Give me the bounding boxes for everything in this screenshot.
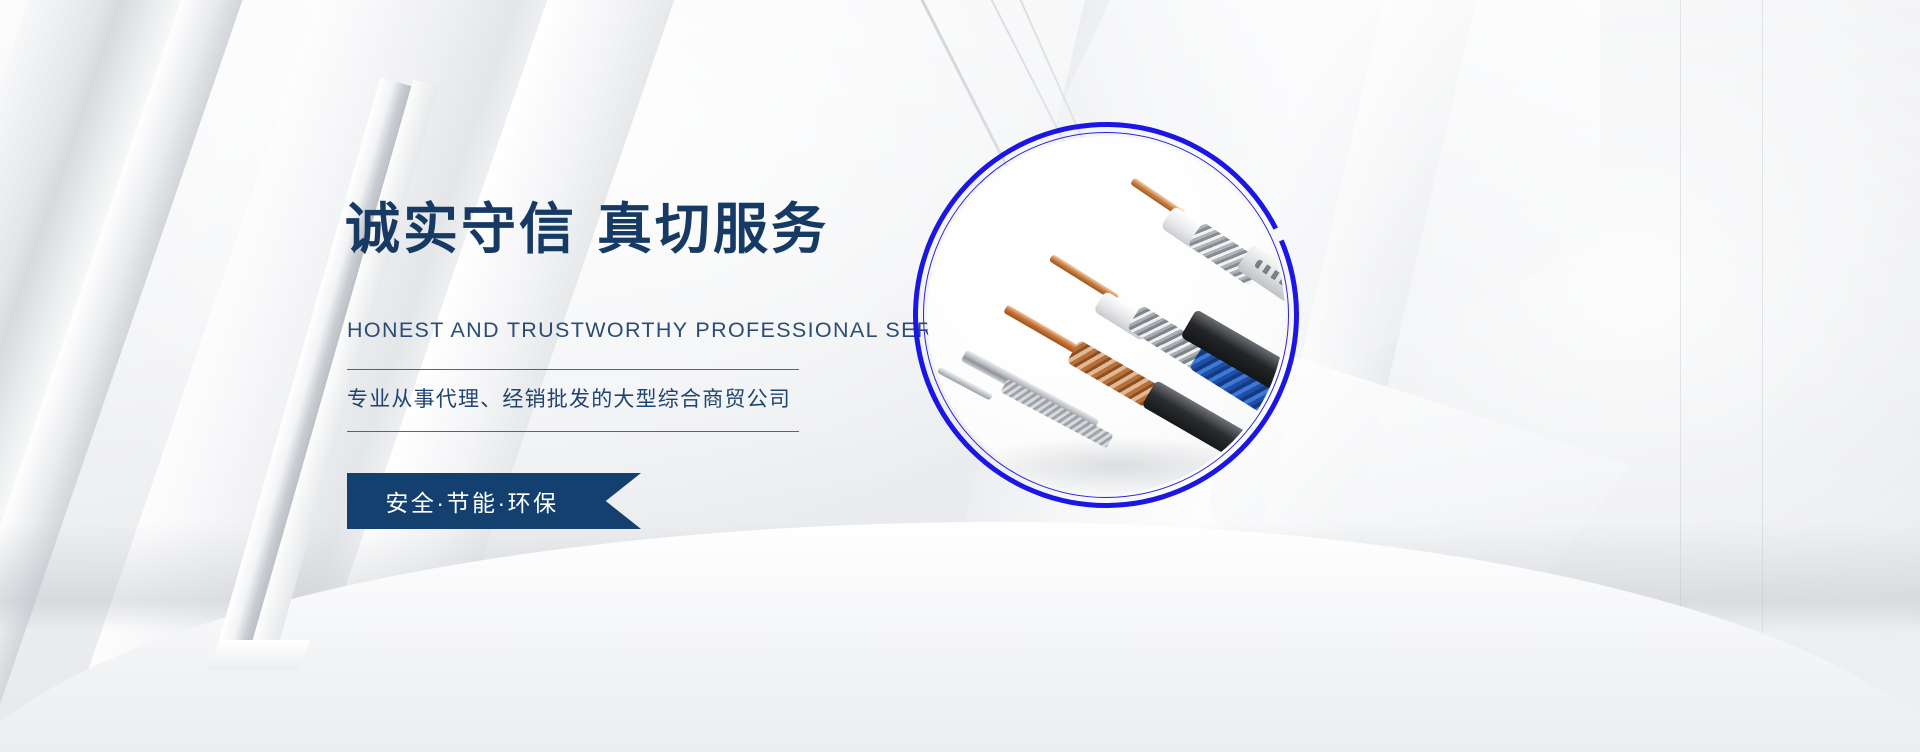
headline-part-two: 真切服务 bbox=[597, 198, 829, 260]
product-circle-visual bbox=[905, 118, 1305, 518]
ribbon-label: 安全·节能·环保 bbox=[347, 473, 597, 529]
banner-headline: 诚实守信真切服务 bbox=[345, 200, 829, 258]
feature-ribbon[interactable]: 安全·节能·环保 bbox=[347, 473, 641, 529]
banner-text-block: 诚实守信真切服务 HONEST AND TRUSTWORTHY PROFESSI… bbox=[345, 0, 905, 752]
headline-part-one: 诚实守信 bbox=[345, 198, 577, 260]
hero-banner: 诚实守信真切服务 HONEST AND TRUSTWORTHY PROFESSI… bbox=[0, 0, 1920, 752]
background-sliver-base bbox=[208, 640, 310, 670]
banner-description: 专业从事代理、经销批发的大型综合商贸公司 bbox=[347, 383, 791, 413]
circle-arc-accent-bottom bbox=[855, 64, 1357, 566]
divider-bottom bbox=[347, 431, 799, 432]
divider-top bbox=[347, 369, 799, 370]
